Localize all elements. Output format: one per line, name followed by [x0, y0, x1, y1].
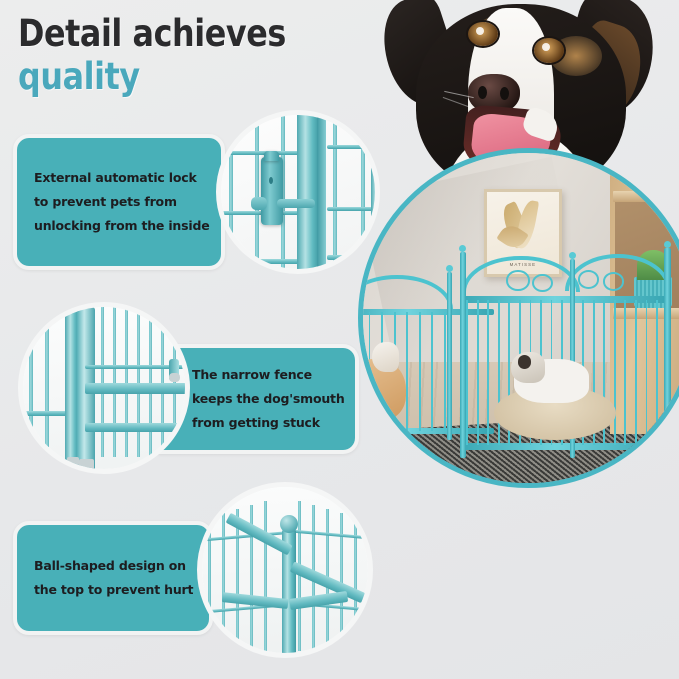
ball-finial: [280, 515, 298, 533]
gate-post: [297, 110, 319, 274]
title-line-accent: quality: [18, 57, 286, 97]
detail-photo-lock: [216, 110, 380, 274]
callout-external-lock: External automatic lock to prevent pets …: [13, 134, 225, 270]
shelf-decor-object: [638, 160, 670, 191]
callout-2-text: The narrow fence keeps the dog'smouth fr…: [192, 363, 347, 435]
dog-eye-left: [468, 22, 498, 46]
page-title: Detail achieves quality: [18, 14, 329, 97]
detail-photo-narrow-fence: [18, 302, 190, 474]
horizontal-rail: [85, 383, 190, 394]
latch-housing: [261, 157, 283, 225]
title-line-primary: Detail achieves: [18, 14, 286, 54]
detail-photo-ball-top: [197, 482, 373, 658]
hero-room-scene: MATISSE: [358, 148, 679, 488]
callout-ball-shaped-top: Ball-shaped design on the top to prevent…: [13, 521, 213, 635]
latch-handle: [277, 199, 315, 208]
infographic-canvas: Detail achieves quality: [0, 0, 679, 679]
callout-3-text: Ball-shaped design on the top to prevent…: [34, 554, 201, 602]
dog-eye-right: [534, 38, 564, 63]
callout-1-text: External automatic lock to prevent pets …: [34, 166, 213, 238]
